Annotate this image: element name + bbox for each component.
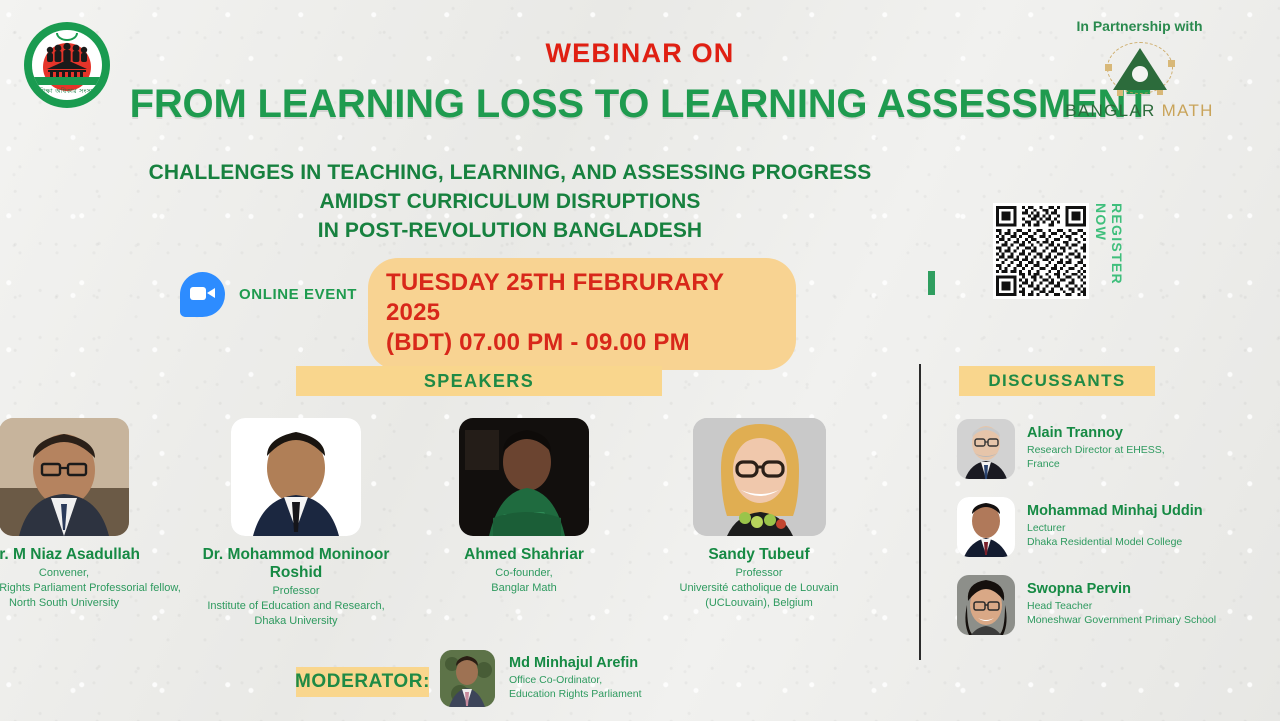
speaker-meta-line: Professor bbox=[641, 566, 877, 581]
banglar-math-wordmark: BANGLAR MATH bbox=[1037, 101, 1242, 121]
event-time: (BDT) 07.00 PM - 09.00 PM bbox=[386, 328, 778, 358]
speaker-name: Dr. M Niaz Asadullah bbox=[0, 546, 182, 564]
speaker-meta-line: Education Rights Parliament Professorial… bbox=[0, 581, 182, 596]
partnership-label: In Partnership with bbox=[1037, 18, 1242, 34]
avatar bbox=[957, 497, 1015, 557]
speaker-meta-line: Professor bbox=[178, 584, 414, 599]
discussant-meta: Head Teacher Moneshwar Government Primar… bbox=[1027, 599, 1216, 627]
qr-code[interactable] bbox=[993, 203, 1089, 299]
partnership-block: In Partnership with BANGLAR MATH bbox=[1037, 18, 1242, 121]
speaker-meta: Professor Université catholique de Louva… bbox=[641, 566, 877, 611]
speaker-meta-line: Dhaka University bbox=[178, 614, 414, 629]
avatar bbox=[693, 418, 826, 536]
speaker-meta-line: Université catholique de Louvain bbox=[641, 581, 877, 596]
speaker-card: Dr. Mohammod Moninoor Roshid Professor I… bbox=[178, 418, 414, 629]
register-qr-block[interactable]: REGISTER NOW bbox=[993, 203, 1089, 299]
subtitle-line-1: CHALLENGES IN TEACHING, LEARNING, AND AS… bbox=[0, 158, 1020, 187]
subtitle-line-3: IN POST-REVOLUTION BANGLADESH bbox=[0, 216, 1020, 245]
speaker-meta-line: Co-founder, bbox=[406, 566, 642, 581]
register-now-label[interactable]: REGISTER NOW bbox=[1093, 203, 1125, 299]
speakers-list: Dr. M Niaz Asadullah Convener, Education… bbox=[0, 418, 920, 648]
discussants-section-header: DISCUSSANTS bbox=[959, 366, 1155, 396]
banglar-math-logo-icon bbox=[1101, 40, 1179, 96]
moderator-label: MODERATOR: bbox=[296, 667, 429, 697]
speaker-meta-line: Institute of Education and Research, bbox=[178, 599, 414, 614]
moderator-card: Md Minhajul Arefin Office Co-Ordinator, … bbox=[440, 650, 642, 707]
green-accent-bar bbox=[928, 271, 935, 295]
speaker-name: Ahmed Shahriar bbox=[406, 546, 642, 564]
subtitle-line-2: AMIDST CURRICULUM DISRUPTIONS bbox=[0, 187, 1020, 216]
discussant-card: Alain Trannoy Research Director at EHESS… bbox=[957, 419, 1277, 479]
speaker-card: Ahmed Shahriar Co-founder, Banglar Math bbox=[406, 418, 642, 596]
discussant-meta: Lecturer Dhaka Residential Model College bbox=[1027, 521, 1203, 549]
speaker-meta-line: Convener, bbox=[0, 566, 182, 581]
moderator-meta-line: Office Co-Ordinator, bbox=[509, 673, 642, 687]
discussants-list: Alain Trannoy Research Director at EHESS… bbox=[957, 419, 1277, 653]
discussant-name: Swopna Pervin bbox=[1027, 581, 1216, 597]
brand-word-2: MATH bbox=[1162, 101, 1214, 120]
discussant-meta-line: Head Teacher bbox=[1027, 599, 1216, 613]
moderator-meta-line: Education Rights Parliament bbox=[509, 687, 642, 701]
avatar bbox=[231, 418, 361, 536]
online-event-row: ONLINE EVENT bbox=[180, 272, 357, 317]
moderator-name: Md Minhajul Arefin bbox=[509, 655, 642, 671]
avatar bbox=[440, 650, 495, 707]
video-call-icon bbox=[180, 272, 225, 317]
discussant-meta-line: Research Director at EHESS, bbox=[1027, 443, 1165, 457]
speaker-meta-line: (UCLouvain), Belgium bbox=[641, 596, 877, 611]
avatar bbox=[957, 419, 1015, 479]
event-date: TUESDAY 25TH FEBRURARY 2025 bbox=[386, 268, 778, 328]
discussant-card: Mohammad Minhaj Uddin Lecturer Dhaka Res… bbox=[957, 497, 1277, 557]
speaker-meta: Convener, Education Rights Parliament Pr… bbox=[0, 566, 182, 611]
speakers-section-header: SPEAKERS bbox=[296, 366, 662, 396]
speaker-name: Dr. Mohammod Moninoor Roshid bbox=[178, 546, 414, 582]
event-datetime-badge: TUESDAY 25TH FEBRURARY 2025 (BDT) 07.00 … bbox=[368, 258, 796, 370]
discussant-name: Alain Trannoy bbox=[1027, 425, 1165, 441]
speaker-meta-line: Banglar Math bbox=[406, 581, 642, 596]
discussant-card: Swopna Pervin Head Teacher Moneshwar Gov… bbox=[957, 575, 1277, 635]
brand-word-1: BANGLAR bbox=[1065, 101, 1155, 120]
discussant-meta-line: Dhaka Residential Model College bbox=[1027, 535, 1203, 549]
speaker-name: Sandy Tubeuf bbox=[641, 546, 877, 564]
avatar bbox=[0, 418, 129, 536]
speaker-meta: Co-founder, Banglar Math bbox=[406, 566, 642, 596]
speaker-meta-line: North South University bbox=[0, 596, 182, 611]
speaker-card: Sandy Tubeuf Professor Université cathol… bbox=[641, 418, 877, 611]
avatar bbox=[459, 418, 589, 536]
discussant-meta-line: Lecturer bbox=[1027, 521, 1203, 535]
webinar-poster: শিক্ষা অধিকার সংসদ WEBINAR ON FROM LEARN… bbox=[0, 0, 1280, 721]
discussant-meta-line: France bbox=[1027, 457, 1165, 471]
avatar bbox=[957, 575, 1015, 635]
speaker-meta: Professor Institute of Education and Res… bbox=[178, 584, 414, 629]
discussant-meta-line: Moneshwar Government Primary School bbox=[1027, 613, 1216, 627]
discussant-name: Mohammad Minhaj Uddin bbox=[1027, 503, 1203, 519]
speaker-card: Dr. M Niaz Asadullah Convener, Education… bbox=[0, 418, 182, 611]
moderator-meta: Office Co-Ordinator, Education Rights Pa… bbox=[509, 673, 642, 701]
online-event-label: ONLINE EVENT bbox=[239, 286, 357, 303]
page-subtitle: CHALLENGES IN TEACHING, LEARNING, AND AS… bbox=[0, 158, 1020, 245]
discussant-meta: Research Director at EHESS, France bbox=[1027, 443, 1165, 471]
